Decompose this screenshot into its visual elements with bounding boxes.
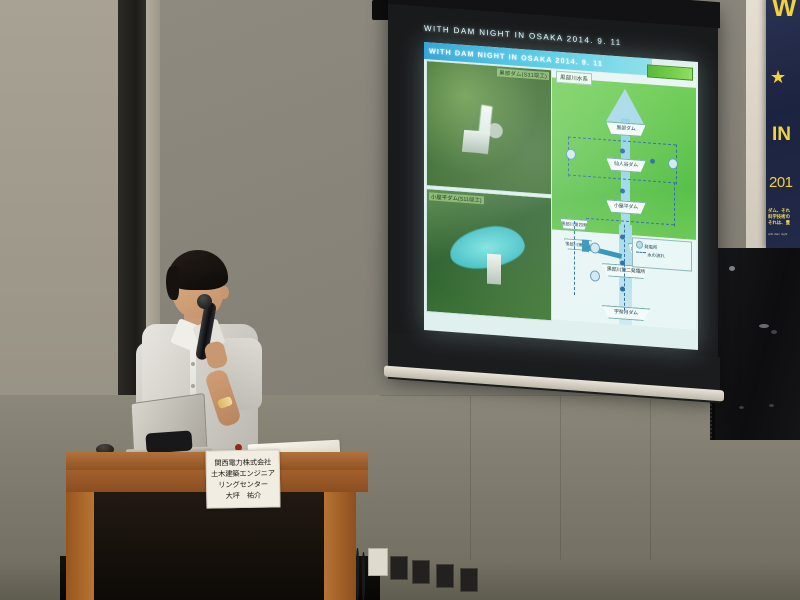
diagram-valve-2 [620, 188, 625, 193]
diagram-channel-bar2 [582, 240, 589, 253]
poster-wall-strip [746, 0, 768, 254]
slide-river-system-diagram: 黒部川水系 黒部ダム 仙人谷ダム 小屋平ダム 黒部川第二発電所 宇奈月ダム 黒部… [552, 69, 696, 330]
speaker-highlight-3 [771, 330, 777, 334]
wall-connector-1[interactable] [390, 556, 408, 580]
diagram-valve-5 [620, 286, 625, 291]
shirt-button-1 [191, 362, 195, 366]
diagram-valve-6 [650, 159, 655, 164]
podium-leg-left [66, 488, 94, 600]
speaker-name-sign: 関西電力株式会社 土木建築エンジニア リングセンター 大坪 祐介 [205, 449, 280, 508]
diagram-plant-ring-1 [566, 148, 576, 160]
star-icon: ★ [770, 70, 786, 84]
poster-year: 201 [769, 174, 793, 191]
podium-table: 関西電力株式会社 土木建築エンジニア リングセンター 大坪 祐介 [66, 452, 368, 600]
diagram-plant-ring-3 [590, 270, 600, 282]
dam-wall-shape [487, 254, 501, 285]
legend-label-2: 水の流れ [647, 252, 665, 258]
diagram-valve-1 [620, 148, 625, 153]
sign-line-4: 大坪 祐介 [225, 490, 261, 502]
poster-fineprint: with dam night [768, 232, 800, 236]
poster-tagline: ダム、それ 科学技術の それは、豊 [768, 208, 800, 226]
diagram-green-badge [647, 64, 693, 80]
legend-circle-icon [636, 241, 643, 250]
speaker-highlight-1 [729, 266, 735, 271]
projected-slide: WITH DAM NIGHT IN OSAKA 2014. 9. 11 黒部ダム… [424, 42, 698, 350]
diagram-plant-ring-4 [590, 242, 600, 254]
diagram-caption: 黒部川水系 [556, 71, 592, 86]
photo-lower-label: 小屋平ダム(S11竣工) [429, 192, 484, 204]
wall-seam-v1 [470, 396, 471, 561]
wall-connector-2[interactable] [412, 560, 430, 584]
speaker-highlight-2 [759, 324, 769, 328]
diagram-plant-ring-2 [668, 158, 678, 170]
speaker-highlight-4 [739, 406, 744, 409]
dam-structure-shape [462, 130, 490, 154]
photo-upper-label: 黒部ダム(S31竣工) [497, 68, 549, 80]
sign-line-3: リングセンター [218, 479, 268, 491]
legend-dashed-icon [636, 252, 646, 254]
presenter-ear [220, 286, 229, 299]
poster-line2: IN [772, 124, 791, 146]
diagram-legend: 発電所 水の流れ [632, 237, 692, 271]
podium-leg-right [324, 488, 356, 600]
diagram-valve-3 [620, 234, 625, 239]
legend-label-1: 発電所 [644, 244, 657, 250]
slide-photo-upper-dam: 黒部ダム(S31竣工) [426, 60, 552, 195]
diagram-flow-vert-3 [674, 182, 675, 226]
camera-on-desk[interactable] [145, 430, 192, 453]
speaker-highlight-5 [769, 404, 774, 407]
power-cable [356, 548, 359, 600]
wall-connector-3[interactable] [436, 564, 454, 588]
loudspeaker-cabinet [712, 248, 800, 440]
diagram-flow-vert-4 [574, 221, 575, 295]
presenter-hair-side [166, 266, 179, 300]
wall-seam-v3 [650, 396, 651, 561]
presentation-room-photo: W ★ IN 201 ダム、それ 科学技術の それは、豊 with dam ni… [0, 0, 800, 600]
poster-tagline-3: それは、豊 [768, 220, 800, 226]
diagram-valve-4 [620, 260, 625, 265]
wall-connector-4[interactable] [460, 568, 478, 592]
event-poster: W ★ IN 201 ダム、それ 科学技術の それは、豊 with dam ni… [766, 0, 800, 248]
slide-photo-lower-dam: 小屋平ダム(S11竣工) [426, 188, 552, 321]
poster-line1: W [772, 0, 796, 23]
wall-outlet-plate [368, 548, 388, 576]
shirt-button-2 [191, 384, 195, 388]
diagram-node-5: 宇奈月ダム [602, 305, 650, 322]
wall-seam-v2 [560, 396, 561, 561]
power-cable-2 [362, 552, 365, 600]
